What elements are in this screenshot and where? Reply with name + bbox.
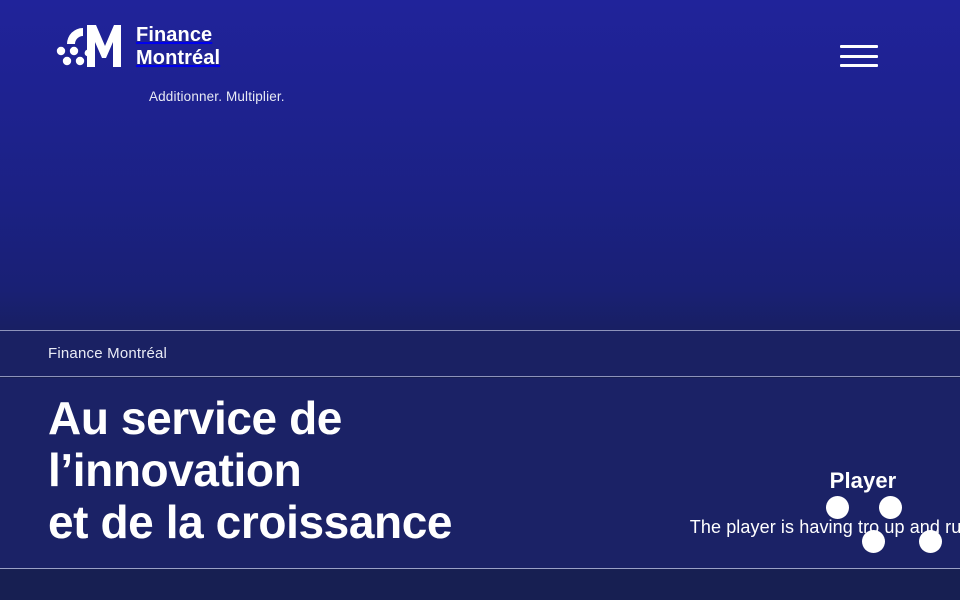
hamburger-icon-bar-2 — [840, 55, 878, 58]
hamburger-icon-bar-1 — [840, 45, 878, 48]
masthead: Finance Montréal Additionner. Multiplier… — [0, 0, 960, 330]
footer-strip — [0, 568, 960, 600]
breadcrumb: Finance Montréal — [0, 330, 960, 377]
hamburger-icon-bar-3 — [840, 64, 878, 67]
hamburger-menu-button[interactable] — [840, 40, 878, 72]
breadcrumb-item-finance-montreal[interactable]: Finance Montréal — [48, 345, 167, 362]
brand-wordmark: Finance Montréal — [136, 24, 220, 70]
brand-logo-link[interactable]: Finance Montréal — [56, 22, 220, 72]
finance-montreal-m-logo-icon — [56, 22, 122, 72]
page-root: Finance Montréal Additionner. Multiplier… — [0, 0, 960, 600]
brand-tagline: Additionner. Multiplier. — [149, 89, 285, 104]
hero-section: Au service de l’innovation et de la croi… — [0, 378, 960, 568]
page-title: Au service de l’innovation et de la croi… — [48, 392, 452, 548]
